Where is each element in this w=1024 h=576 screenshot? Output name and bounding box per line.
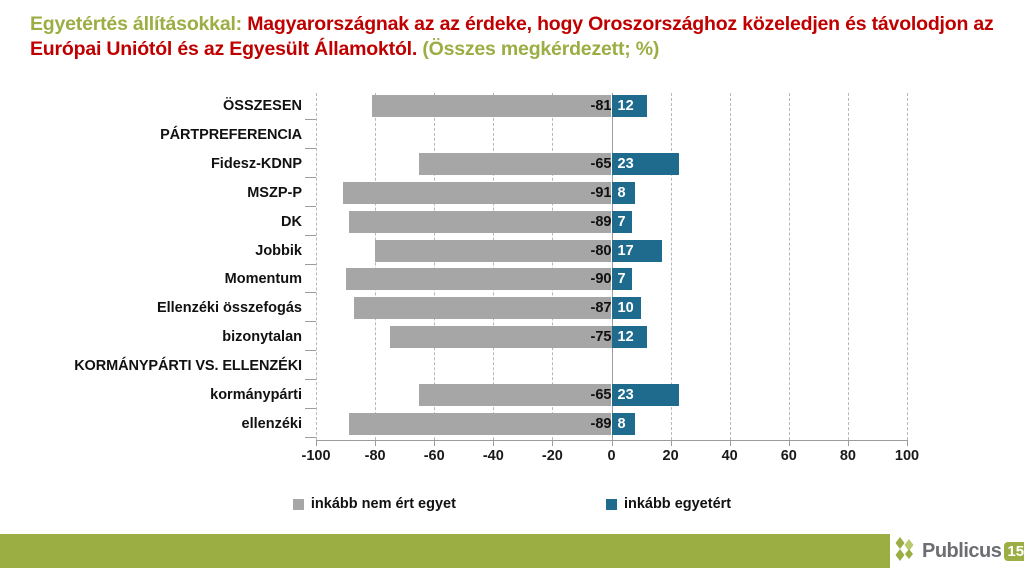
legend-label: inkább nem ért egyet	[311, 496, 456, 512]
category-tick	[305, 235, 316, 236]
legend-swatch-icon	[606, 499, 617, 510]
chart-row: Momentum-907	[0, 266, 1024, 292]
x-tick-label-40: 40	[700, 448, 760, 464]
diverging-bar-chart: ÖSSZESEN-8112PÁRTPREFERENCIAFidesz-KDNP-…	[0, 80, 1024, 510]
bar-value-agree: 7	[612, 268, 639, 290]
category-label: ellenzéki	[0, 411, 302, 437]
x-tick--100	[316, 440, 317, 446]
bar-value-disagree: -80	[375, 240, 616, 262]
x-tick-label-100: 100	[877, 448, 937, 464]
diamond-cluster-icon	[893, 537, 919, 566]
bar-value-agree: 12	[612, 95, 653, 117]
bar-value-agree: 7	[612, 211, 639, 233]
title-base: (Összes megkérdezett; %)	[422, 38, 659, 60]
category-tick	[305, 379, 316, 380]
bar-value-disagree: -81	[372, 95, 616, 117]
chart-row: MSZP-P-918	[0, 180, 1024, 206]
bar-value-agree: 23	[612, 384, 686, 406]
logo-anniversary-badge: 15	[1004, 542, 1024, 561]
category-label: ÖSSZESEN	[0, 93, 302, 119]
x-tick-80	[848, 440, 849, 446]
category-label: Momentum	[0, 266, 302, 292]
chart-row: ÖSSZESEN-8112	[0, 93, 1024, 119]
bar-value-agree: 12	[612, 326, 653, 348]
legend-item[interactable]: inkább egyetért	[606, 496, 731, 512]
category-tick	[305, 292, 316, 293]
bar-value-disagree: -87	[354, 297, 616, 319]
category-label: Ellenzéki összefogás	[0, 295, 302, 321]
legend-item[interactable]: inkább nem ért egyet	[293, 496, 456, 512]
x-tick--40	[493, 440, 494, 446]
chart-row: KORMÁNYPÁRTI VS. ELLENZÉKI	[0, 353, 1024, 379]
footer-bar	[0, 534, 890, 568]
category-label: PÁRTPREFERENCIA	[0, 122, 302, 148]
title-lead: Egyetértés állításokkal:	[30, 13, 242, 35]
x-tick-40	[730, 440, 731, 446]
x-tick-0	[612, 440, 613, 446]
category-label: MSZP-P	[0, 180, 302, 206]
bar-value-disagree: -75	[390, 326, 617, 348]
chart-row: PÁRTPREFERENCIA	[0, 122, 1024, 148]
chart-row: kormánypárti-6523	[0, 382, 1024, 408]
category-label: Jobbik	[0, 238, 302, 264]
bar-value-agree: 10	[612, 297, 648, 319]
category-tick	[305, 148, 316, 149]
bar-value-agree: 17	[612, 240, 668, 262]
x-tick-label-60: 60	[759, 448, 819, 464]
category-tick	[305, 321, 316, 322]
category-tick	[305, 119, 316, 120]
bar-value-agree: 8	[612, 182, 642, 204]
x-tick--60	[434, 440, 435, 446]
chart-row: bizonytalan-7512	[0, 324, 1024, 350]
x-tick-label-20: 20	[641, 448, 701, 464]
x-tick-label--40: -40	[463, 448, 523, 464]
category-tick	[305, 350, 316, 351]
publicus-logo: Publicus 15	[893, 537, 1024, 565]
category-label: DK	[0, 209, 302, 235]
bar-value-agree: 8	[612, 413, 642, 435]
x-tick--80	[375, 440, 376, 446]
x-tick-label-80: 80	[818, 448, 878, 464]
chart-legend: inkább nem ért egyetinkább egyetért	[0, 492, 1024, 516]
logo-wordmark: Publicus	[922, 540, 1001, 563]
bar-value-disagree: -65	[419, 153, 616, 175]
category-tick	[305, 206, 316, 207]
x-tick-label-0: 0	[582, 448, 642, 464]
chart-row: Ellenzéki összefogás-8710	[0, 295, 1024, 321]
chart-row: DK-897	[0, 209, 1024, 235]
x-tick-label--60: -60	[404, 448, 464, 464]
category-tick	[305, 264, 316, 265]
chart-row: Fidesz-KDNP-6523	[0, 151, 1024, 177]
bar-value-disagree: -89	[349, 211, 617, 233]
x-tick-label--100: -100	[286, 448, 346, 464]
chart-row: ellenzéki-898	[0, 411, 1024, 437]
x-tick-60	[789, 440, 790, 446]
category-label: kormánypárti	[0, 382, 302, 408]
bar-value-disagree: -89	[349, 413, 617, 435]
category-tick	[305, 408, 316, 409]
page-title: Egyetértés állításokkal: Magyarországnak…	[30, 12, 995, 62]
x-tick-100	[907, 440, 908, 446]
category-label: bizonytalan	[0, 324, 302, 350]
bar-value-agree: 23	[612, 153, 686, 175]
chart-row: Jobbik-8017	[0, 238, 1024, 264]
x-tick-label--20: -20	[522, 448, 582, 464]
bar-value-disagree: -91	[343, 182, 617, 204]
category-label: Fidesz-KDNP	[0, 151, 302, 177]
bar-value-disagree: -90	[346, 268, 617, 290]
category-label: KORMÁNYPÁRTI VS. ELLENZÉKI	[0, 353, 302, 379]
x-tick--20	[552, 440, 553, 446]
bar-value-disagree: -65	[419, 384, 616, 406]
legend-swatch-icon	[293, 499, 304, 510]
category-tick	[305, 177, 316, 178]
legend-label: inkább egyetért	[624, 496, 731, 512]
x-tick-label--80: -80	[345, 448, 405, 464]
x-tick-20	[671, 440, 672, 446]
category-tick	[305, 437, 316, 438]
